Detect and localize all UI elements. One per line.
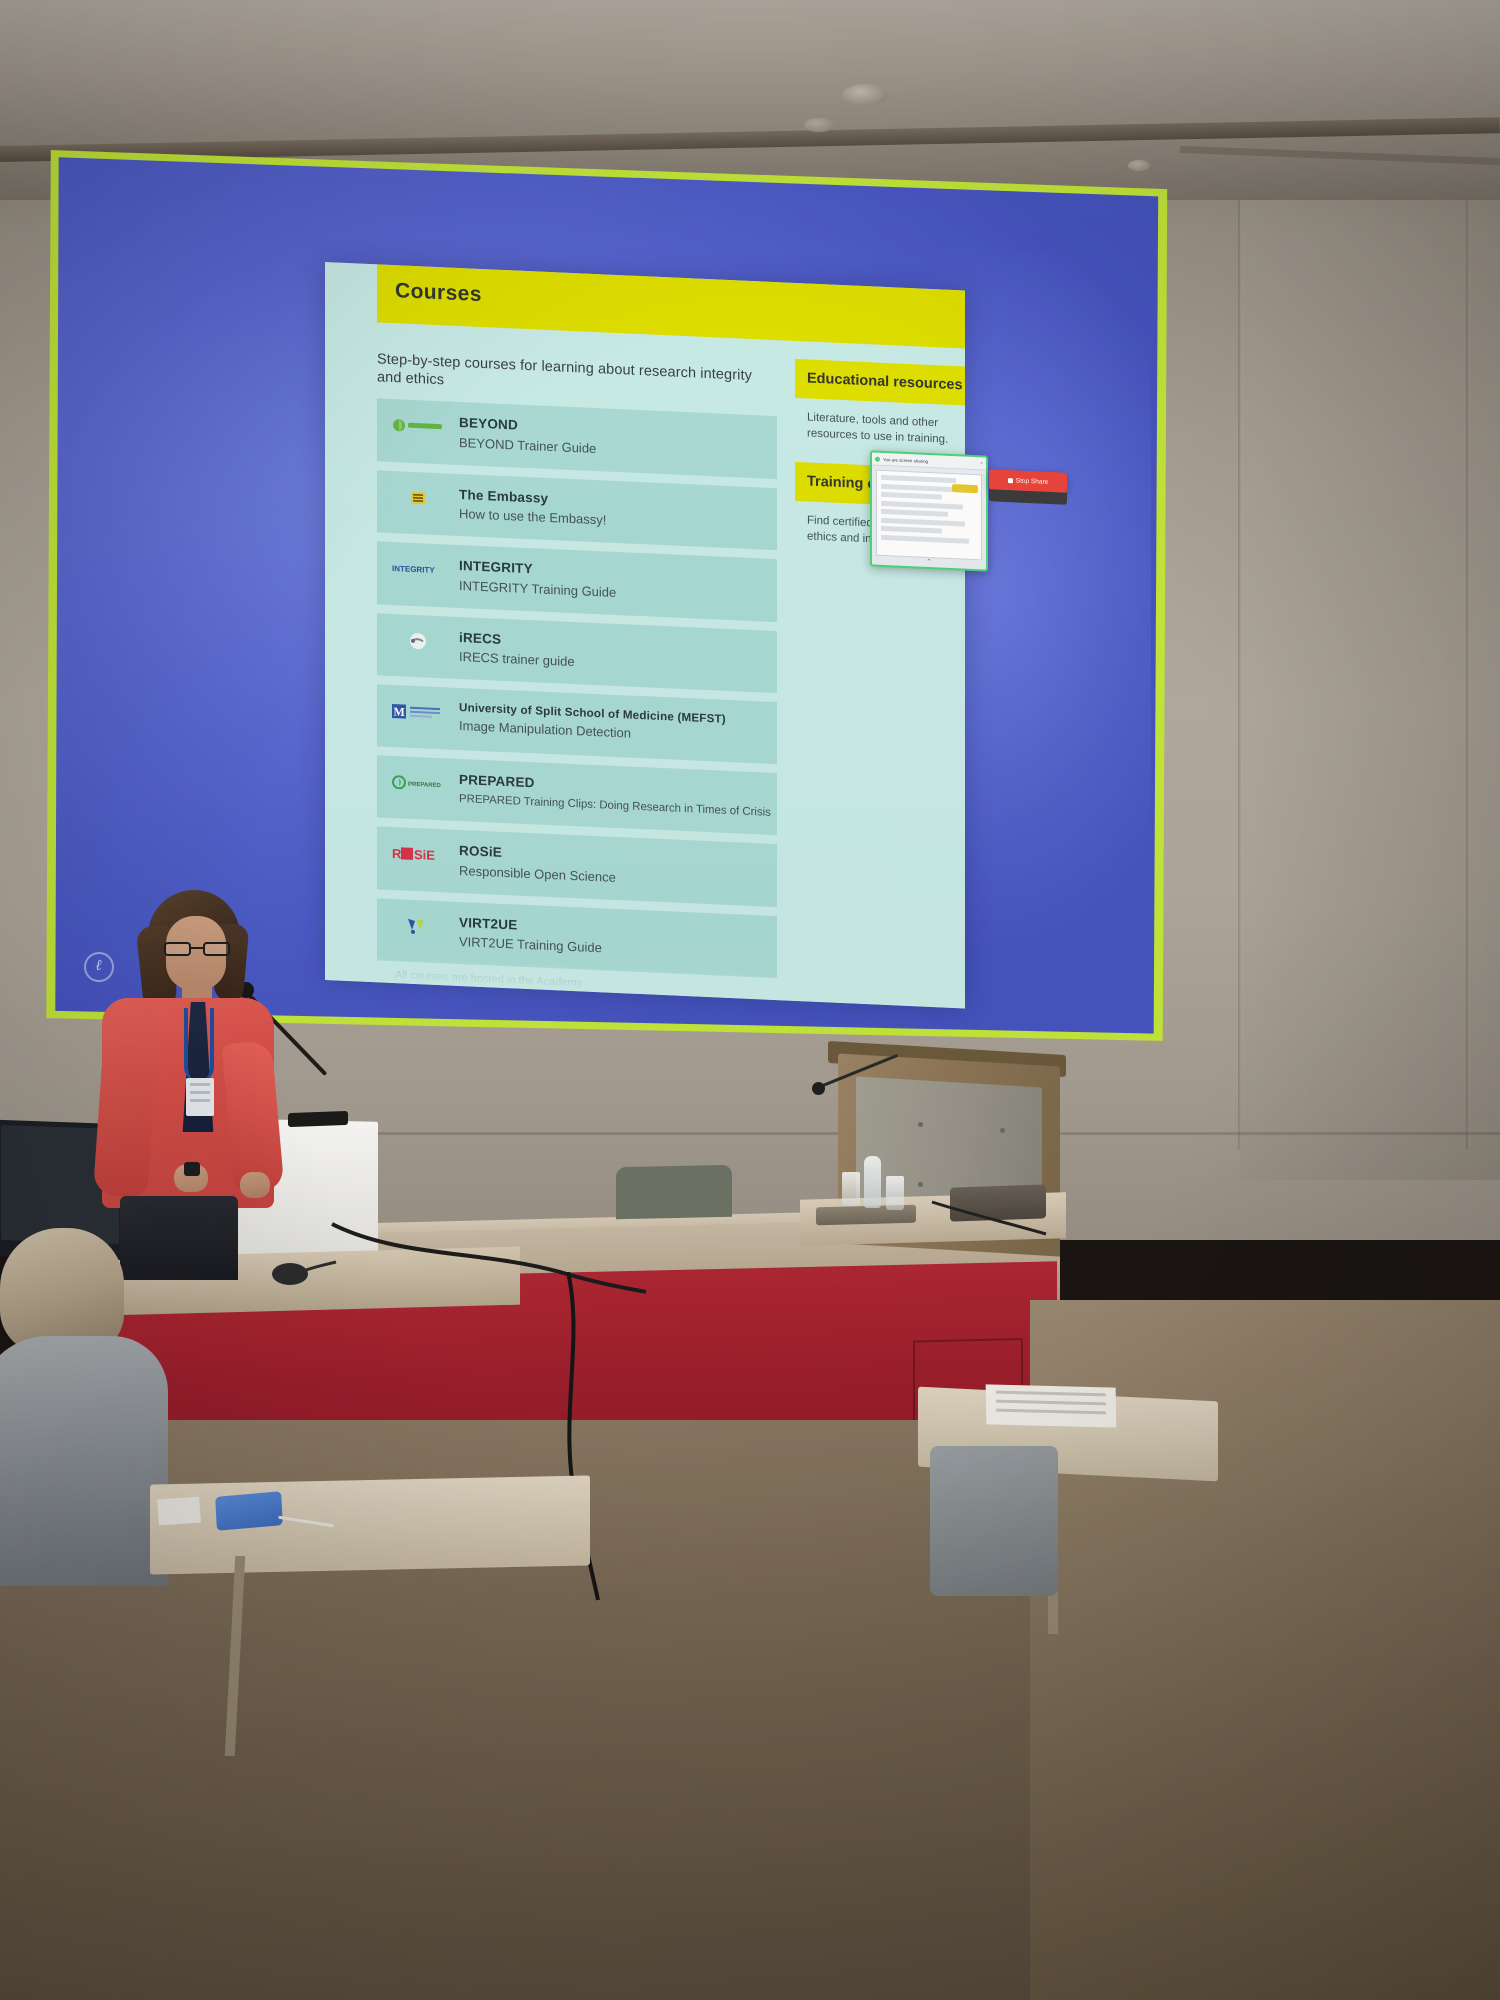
stop-share-label: Stop Share bbox=[1016, 477, 1049, 485]
panel-heading-banner-educational: Educational resources bbox=[795, 359, 965, 406]
list-item[interactable]: INTEGRITY INTEGRITY INTEGRITY Training G… bbox=[377, 541, 777, 621]
screen-share-preview-popup[interactable]: You are screen sharing ⌕ ⌃ bbox=[870, 450, 988, 571]
microphone-base bbox=[288, 1111, 348, 1127]
panel-heading: Educational resources bbox=[807, 370, 953, 393]
stage-cable bbox=[930, 1196, 1050, 1246]
svg-text:R: R bbox=[392, 846, 402, 861]
photo-scene: ℓ Courses Step-by-step courses for learn… bbox=[0, 0, 1500, 2000]
audience-paper bbox=[157, 1497, 201, 1526]
chevron-up-icon[interactable]: ⌃ bbox=[926, 558, 932, 566]
prepared-logo-icon: PREPARED bbox=[391, 772, 445, 794]
smartphone[interactable] bbox=[215, 1491, 283, 1531]
water-glass bbox=[842, 1172, 860, 1206]
svg-text:SiE: SiE bbox=[414, 847, 435, 863]
presenter-badge bbox=[186, 1078, 214, 1116]
list-item[interactable]: PREPARED PREPARED PREPARED Training Clip… bbox=[377, 755, 777, 835]
page-title: Courses bbox=[395, 279, 482, 307]
ceiling-speaker-icon bbox=[842, 84, 888, 106]
lectern-screw-icon bbox=[918, 1182, 923, 1187]
thumbnail-highlight-button bbox=[952, 484, 978, 493]
wall-edge-right bbox=[1466, 120, 1470, 1150]
list-item[interactable]: M University of Split School of Medicine… bbox=[377, 684, 777, 764]
svg-text:PREPARED: PREPARED bbox=[408, 782, 442, 789]
list-item[interactable]: The Embassy How to use the Embassy! bbox=[377, 470, 777, 550]
presenter-lanyard bbox=[184, 1008, 214, 1082]
wall-right-panel bbox=[1240, 120, 1500, 1180]
list-item[interactable]: RSiE ROSiE Responsible Open Science bbox=[377, 826, 777, 906]
beyond-logo-icon bbox=[391, 415, 445, 437]
green-dot-icon bbox=[875, 456, 880, 461]
stop-square-icon bbox=[1008, 478, 1013, 483]
virt2ue-logo-icon bbox=[391, 914, 445, 936]
rosie-logo-icon: RSiE bbox=[391, 843, 445, 865]
mefst-logo-icon: M bbox=[391, 701, 445, 723]
water-glass bbox=[886, 1176, 904, 1210]
integrity-logo-icon: INTEGRITY bbox=[391, 558, 445, 580]
wall-edge-left bbox=[1238, 120, 1242, 1150]
irecs-logo-icon bbox=[391, 630, 445, 652]
presenter-hand-right bbox=[240, 1172, 270, 1198]
shared-browser-page: Courses Step-by-step courses for learnin… bbox=[325, 262, 965, 1009]
glasses-icon bbox=[164, 942, 230, 956]
screen-share-status-text: You are screen sharing bbox=[883, 456, 928, 463]
lectern-microphone-head bbox=[812, 1082, 825, 1095]
svg-text:INTEGRITY: INTEGRITY bbox=[392, 564, 435, 575]
lectern-screw-icon bbox=[918, 1122, 923, 1127]
svg-text:M: M bbox=[394, 705, 405, 719]
ceiling-vent-icon bbox=[804, 118, 834, 132]
chair bbox=[616, 1165, 732, 1219]
screen-share-thumbnail bbox=[872, 465, 986, 564]
presenter bbox=[96, 890, 296, 1270]
lectern-screw-icon bbox=[1000, 1128, 1005, 1133]
presentation-clicker[interactable] bbox=[184, 1162, 200, 1176]
water-bottle bbox=[864, 1156, 881, 1208]
list-item[interactable]: iRECS IRECS trainer guide bbox=[377, 613, 777, 693]
search-icon[interactable]: ⌕ bbox=[980, 460, 983, 466]
courses-column: Step-by-step courses for learning about … bbox=[377, 350, 777, 987]
audience-member-body bbox=[0, 1336, 168, 1586]
back-desk-papers bbox=[986, 1384, 1117, 1427]
back-chair bbox=[930, 1446, 1058, 1596]
embassy-logo-icon bbox=[391, 487, 445, 509]
presenter-arm-left bbox=[93, 1044, 157, 1197]
presenter-lower-body bbox=[120, 1196, 238, 1280]
